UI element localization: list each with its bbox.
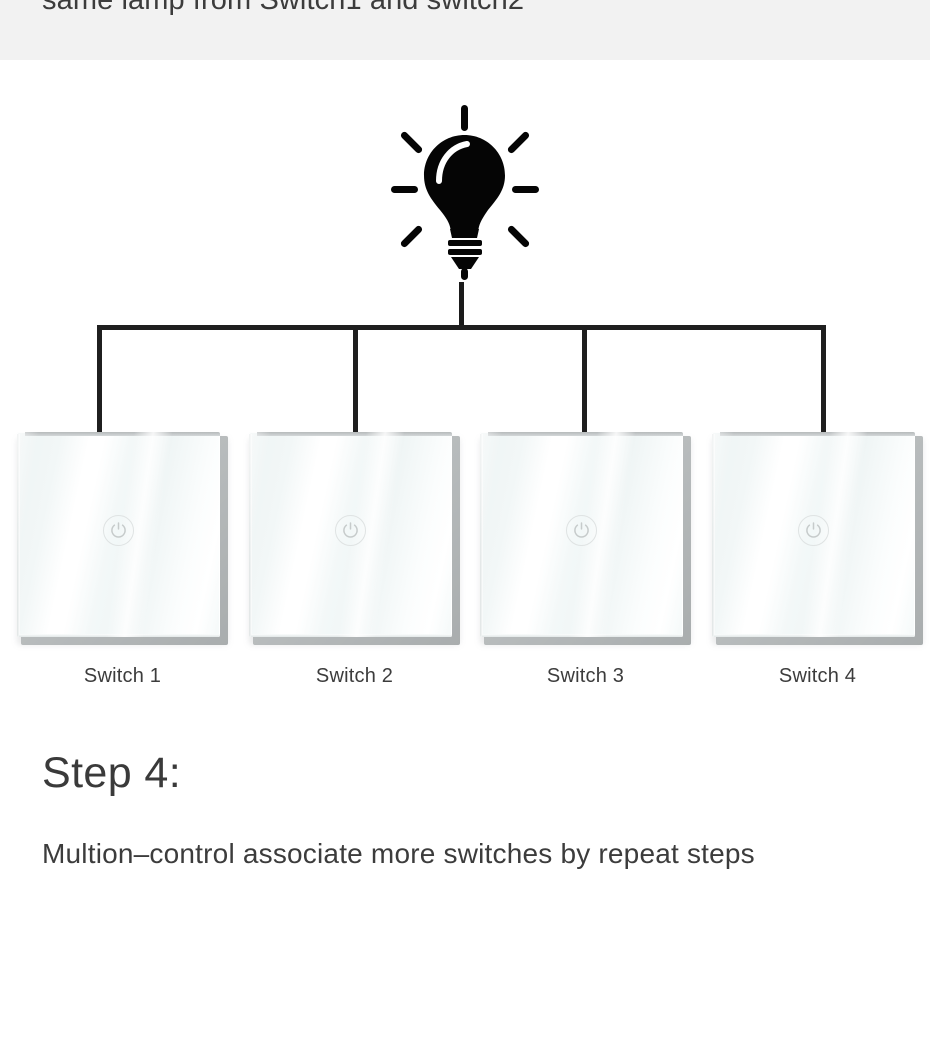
- panel-rim-left: [712, 434, 715, 637]
- panel-rim-bottom: [714, 634, 915, 637]
- switch-panel-3[interactable]: [480, 432, 691, 645]
- switch-label-4: Switch 4: [712, 665, 923, 688]
- panel-face: [17, 432, 220, 637]
- panel-rim-bottom: [482, 634, 683, 637]
- switch-row: Switch 1 Switch 2 Switch 3 Switch 4: [0, 60, 930, 720]
- page-root: same lamp from Switch1 and switch2: [0, 0, 930, 1054]
- panel-gloss: [249, 432, 274, 637]
- panel-face: [480, 432, 683, 637]
- switch-panel-2[interactable]: [249, 432, 460, 645]
- panel-rim-left: [17, 434, 20, 637]
- step-block: Step 4: Multion–control associate more s…: [42, 745, 882, 883]
- power-icon[interactable]: [566, 515, 597, 546]
- panel-rim-left: [480, 434, 483, 637]
- step-body-text: Multion–control associate more switches …: [42, 825, 802, 883]
- switch-label-2: Switch 2: [249, 665, 460, 688]
- panel-gloss: [480, 432, 505, 637]
- panel-rim-bottom: [19, 634, 220, 637]
- power-icon[interactable]: [103, 515, 134, 546]
- switch-panel-4[interactable]: [712, 432, 923, 645]
- power-icon[interactable]: [335, 515, 366, 546]
- panel-rim-top: [488, 432, 683, 436]
- switch-label-1: Switch 1: [17, 665, 228, 688]
- panel-rim-top: [257, 432, 452, 436]
- step-heading: Step 4:: [42, 745, 882, 801]
- panel-face: [712, 432, 915, 637]
- panel-face: [249, 432, 452, 637]
- caption-text: same lamp from Switch1 and switch2: [42, 0, 524, 23]
- panel-rim-top: [720, 432, 915, 436]
- wiring-diagram: Switch 1 Switch 2 Switch 3 Switch 4: [0, 60, 930, 720]
- caption-band: same lamp from Switch1 and switch2: [0, 0, 930, 60]
- power-icon[interactable]: [798, 515, 829, 546]
- switch-panel-1[interactable]: [17, 432, 228, 645]
- panel-rim-bottom: [251, 634, 452, 637]
- switch-label-3: Switch 3: [480, 665, 691, 688]
- panel-rim-left: [249, 434, 252, 637]
- panel-rim-top: [25, 432, 220, 436]
- panel-gloss: [712, 432, 737, 637]
- panel-gloss: [17, 432, 42, 637]
